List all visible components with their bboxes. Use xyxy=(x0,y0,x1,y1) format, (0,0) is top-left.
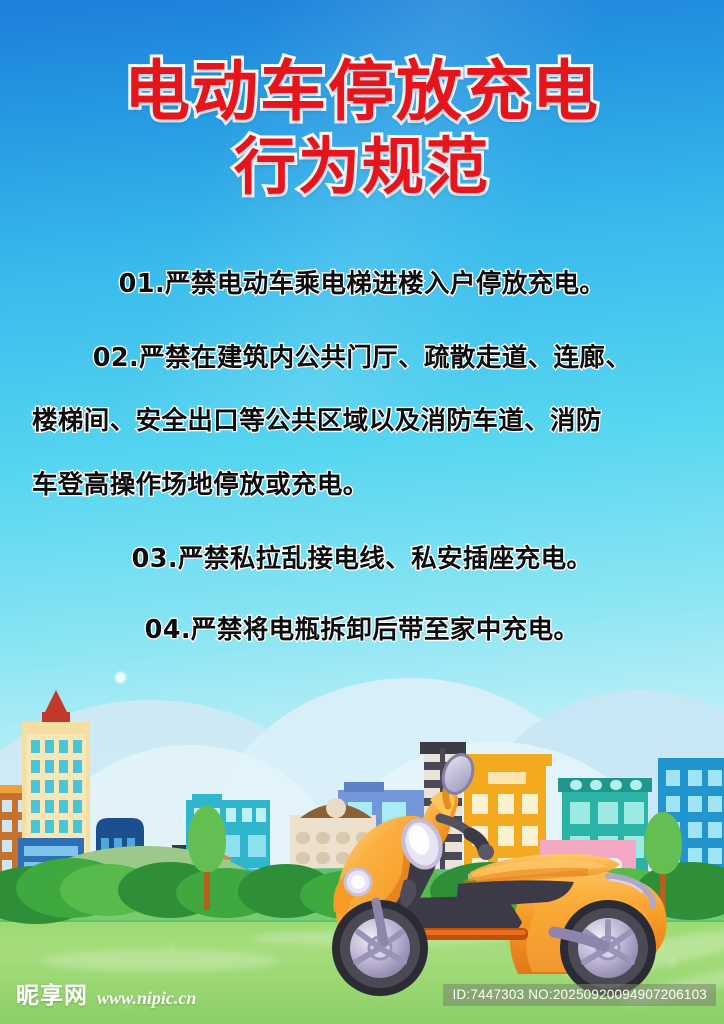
rule-03-line-1: 03.严禁私拉乱接电线、私安插座充电。 xyxy=(18,543,706,577)
rules-list: 01.严禁电动车乘电梯进楼入户停放充电。 02.严禁在建筑内公共门厅、疏散走道、… xyxy=(0,268,724,648)
rule-04-line-1: 04.严禁将电瓶拆卸后带至家中充电。 xyxy=(18,614,706,648)
title-line-2: 行为规范 xyxy=(0,135,724,198)
tree-canopy-left xyxy=(188,806,226,872)
poster-title: 电动车停放充电 行为规范 xyxy=(0,58,724,199)
rule-01-line-1: 01.严禁电动车乘电梯进楼入户停放充电。 xyxy=(18,268,706,302)
watermark-id-badge: ID:7447303 NO:20250920094907206103 xyxy=(443,984,716,1006)
grass-dot-1 xyxy=(168,944,175,951)
sun-dot-icon xyxy=(115,672,126,683)
watermark-url: www.nipic.cn xyxy=(97,988,196,1010)
watermark: 昵享网 www.nipic.cn xyxy=(16,976,196,1010)
rule-item-01: 01.严禁电动车乘电梯进楼入户停放充电。 xyxy=(0,268,724,302)
grass-highlight-1 xyxy=(40,950,280,972)
rule-02-line-2: 楼梯间、安全出口等公共区域以及消防车道、消防 xyxy=(18,405,706,439)
rule-02-line-3: 车登高操作场地停放或充电。 xyxy=(18,469,706,503)
rule-item-04: 04.严禁将电瓶拆卸后带至家中充电。 xyxy=(0,614,724,648)
rule-item-02: 02.严禁在建筑内公共门厅、疏散走道、连廊、 楼梯间、安全出口等公共区域以及消防… xyxy=(0,342,724,503)
electric-scooter-illustration xyxy=(318,752,698,1000)
scooter-svg xyxy=(318,752,698,1000)
rule-item-03: 03.严禁私拉乱接电线、私安插座充电。 xyxy=(0,543,724,577)
poster-canvas: 电动车停放充电 行为规范 01.严禁电动车乘电梯进楼入户停放充电。 02.严禁在… xyxy=(0,0,724,1024)
watermark-logo-text: 昵享网 xyxy=(16,976,88,1010)
title-line-1: 电动车停放充电 xyxy=(0,58,724,125)
rule-02-line-1: 02.严禁在建筑内公共门厅、疏散走道、连廊、 xyxy=(18,342,706,376)
